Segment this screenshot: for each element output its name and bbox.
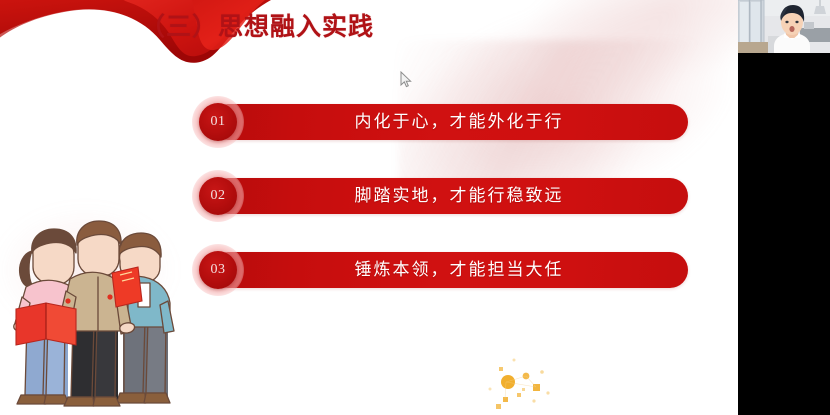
item-number-badge[interactable]: 02 (199, 177, 237, 215)
list-item[interactable]: 内化于心，才能外化于行 01 (192, 104, 688, 140)
item-number: 03 (199, 251, 237, 289)
item-text: 内化于心，才能外化于行 (244, 104, 674, 140)
slide-title: （三）思想融入实践 (140, 12, 374, 44)
badge-dot (65, 298, 70, 303)
item-text: 锤炼本领，才能担当大任 (244, 252, 674, 288)
mouse-cursor (400, 71, 412, 89)
screen: （三）思想融入实践 内化于心，才能外化于行 01 脚踏实地，才能行稳致远 02 … (0, 0, 830, 415)
right-panel (738, 0, 830, 415)
presenter-webcam[interactable] (738, 0, 830, 53)
students-illustration (2, 197, 182, 415)
red-book-icon (16, 303, 76, 345)
item-number-badge[interactable]: 01 (199, 103, 237, 141)
list-item[interactable]: 锤炼本领，才能担当大任 03 (192, 252, 688, 288)
watercolor-wash-left-decoration (0, 180, 200, 360)
list-item[interactable]: 脚踏实地，才能行稳致远 02 (192, 178, 688, 214)
item-number: 02 (199, 177, 237, 215)
red-book-icon (112, 267, 142, 307)
item-number-badge[interactable]: 03 (199, 251, 237, 289)
presentation-slide[interactable]: （三）思想融入实践 内化于心，才能外化于行 01 脚踏实地，才能行稳致远 02 … (0, 0, 738, 415)
item-text: 脚踏实地，才能行稳致远 (244, 178, 674, 214)
webcam-video (738, 0, 830, 53)
item-number: 01 (199, 103, 237, 141)
badge-dot (107, 294, 112, 299)
gold-particles-decoration (476, 352, 586, 412)
